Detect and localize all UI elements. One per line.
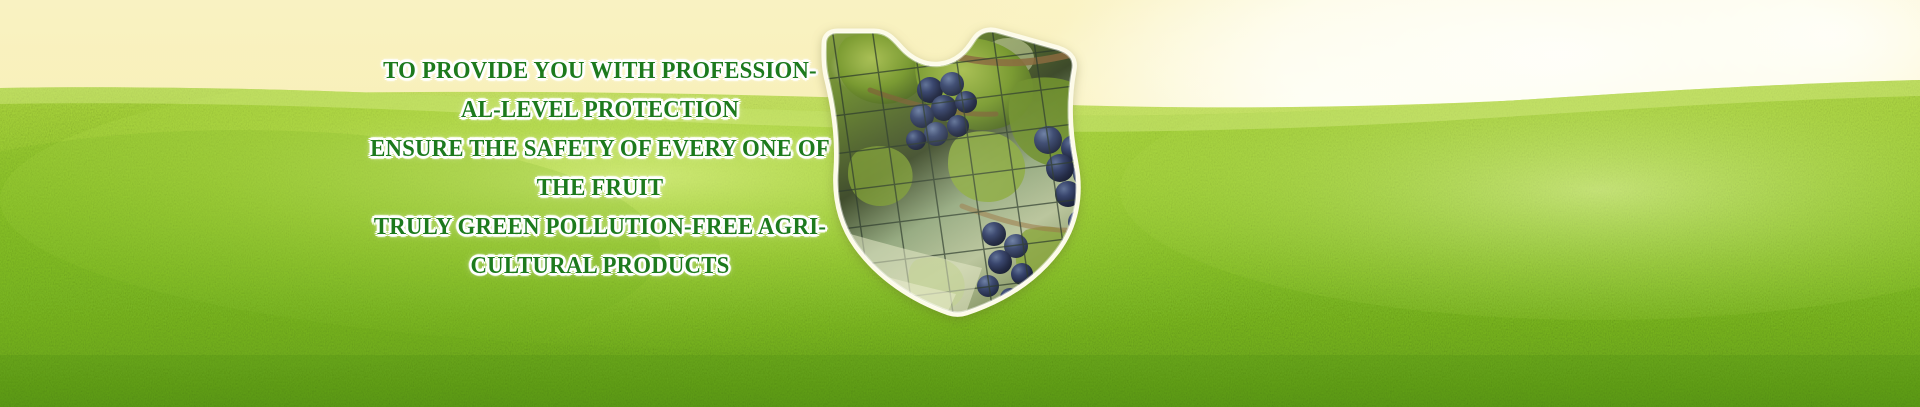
hero-banner: TO PROVIDE YOU WITH PROFESSION- AL-LEVEL… — [0, 0, 1920, 407]
shield-photo — [812, 24, 1112, 320]
grape-shield-icon — [812, 24, 1112, 320]
shield-emblem — [812, 24, 1112, 320]
